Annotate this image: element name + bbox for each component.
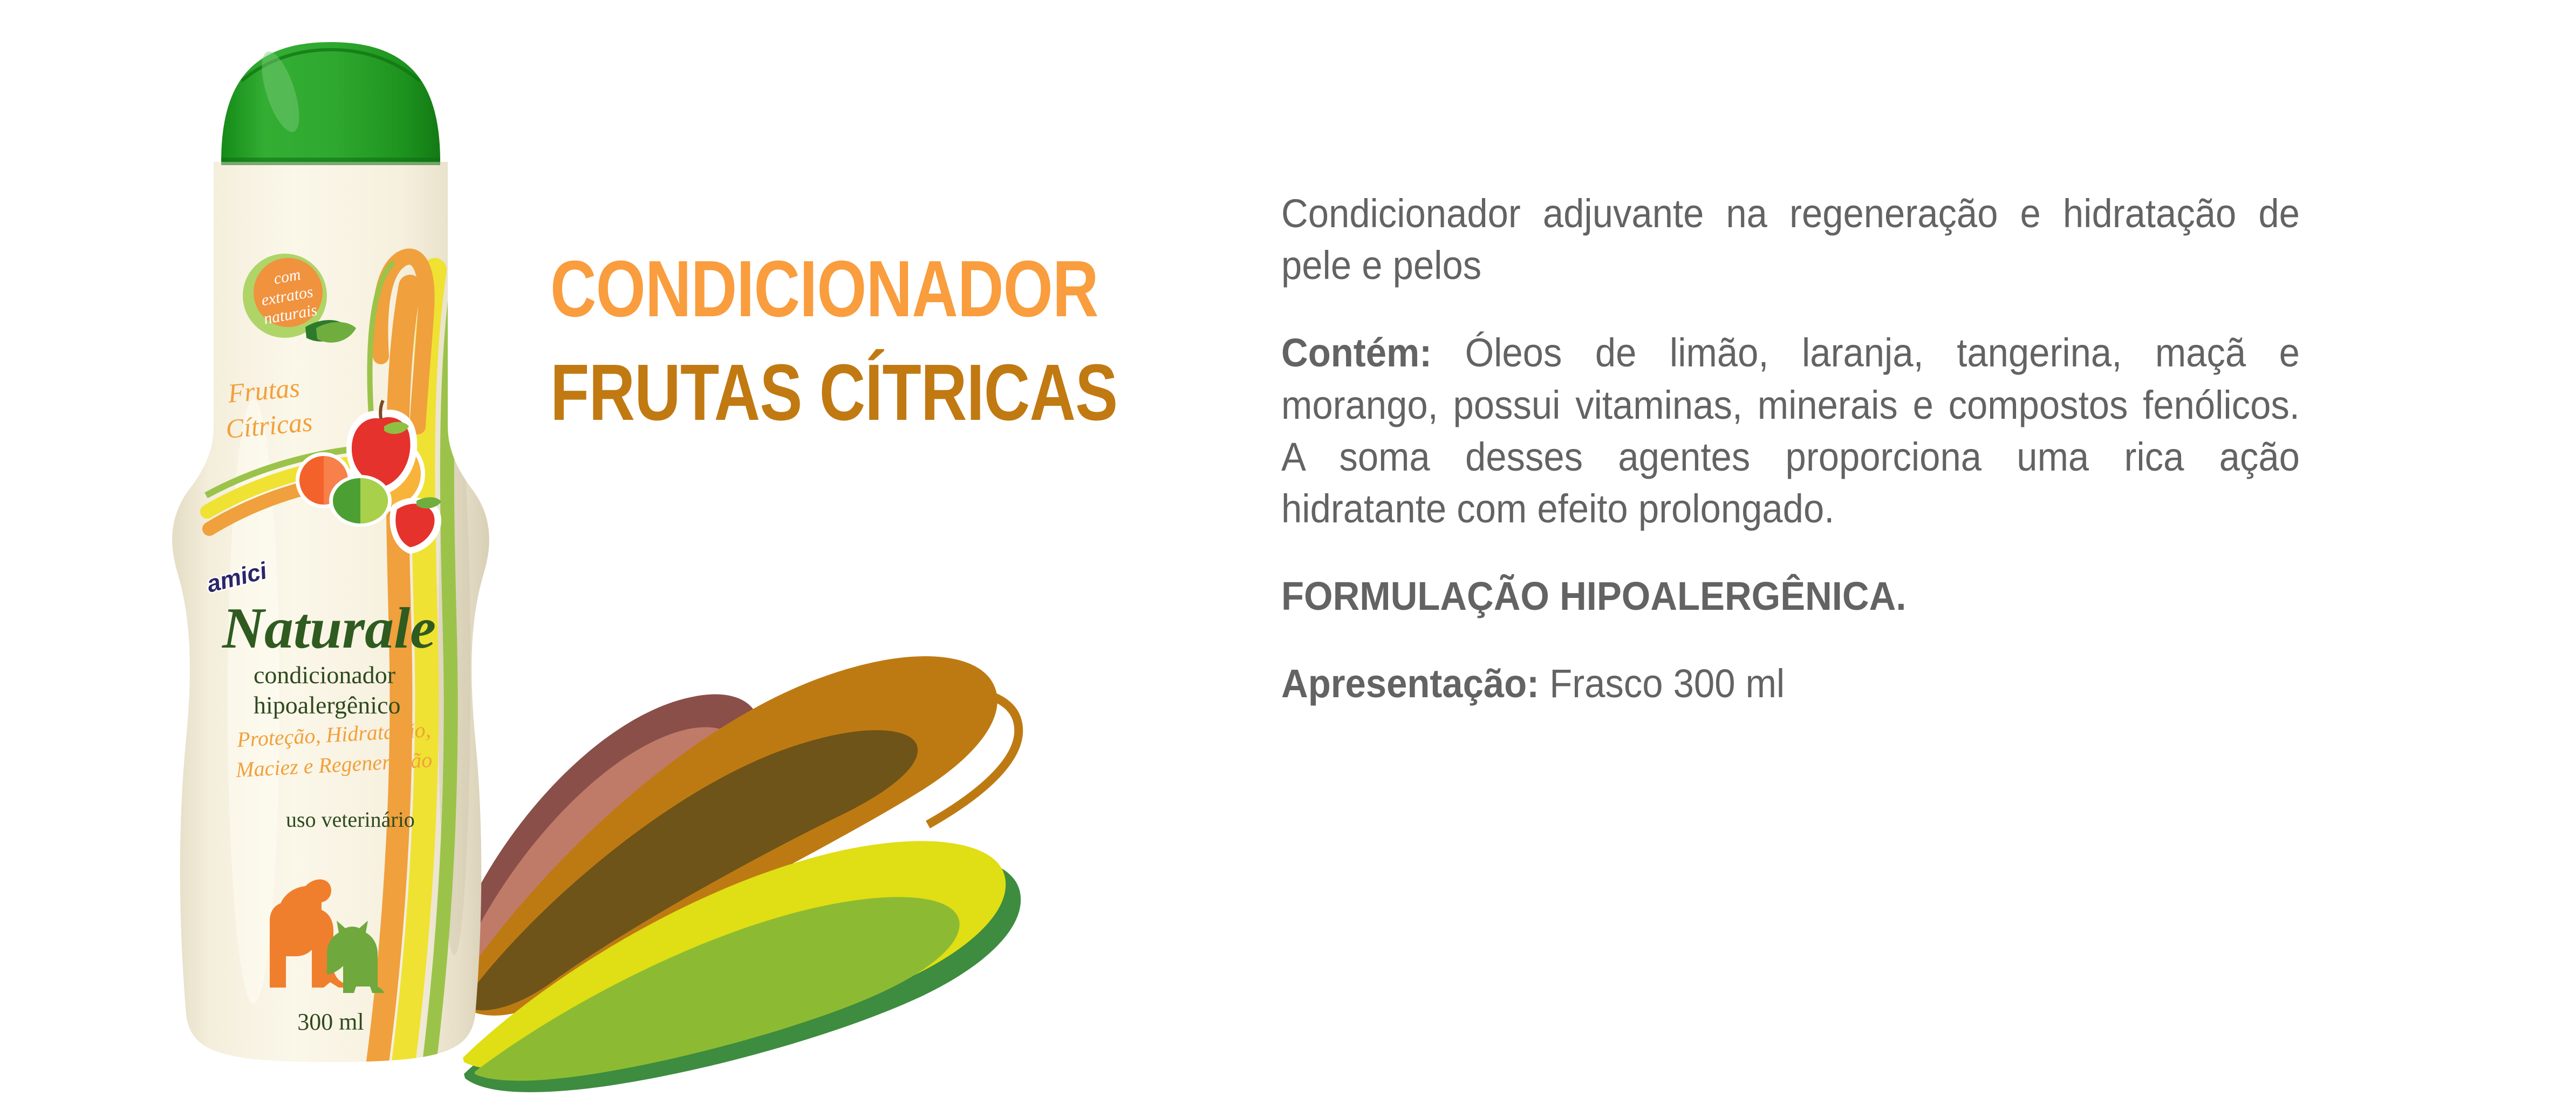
product-type-line-1: condicionador [254,661,395,689]
product-title-line-2: FRUTAS CÍTRICAS [550,341,1090,445]
product-description: Condicionador adjuvante na regeneração e… [1281,188,2376,710]
brand-main-label: Naturale [222,596,436,661]
contains-label: Contém: [1281,330,1432,375]
description-paragraph-contains: Contém: Óleos de limão, laranja, tangeri… [1281,327,2300,535]
product-bottle: com extratos naturais Frutas Cítricas [0,0,1241,1109]
description-paragraph-presentation: Apresentação: Frasco 300 ml [1281,658,2300,710]
description-paragraph-intro: Condicionador adjuvante na regeneração e… [1281,188,2300,291]
product-page: com extratos naturais Frutas Cítricas [0,0,2576,1109]
product-title: CONDICIONADOR FRUTAS CÍTRICAS [550,237,1225,445]
contains-text: Óleos de limão, laranja, tangerina, maçã… [1281,330,2300,531]
product-title-line-1: CONDICIONADOR [550,237,1090,341]
cap-rim [221,158,440,165]
intro-text: Condicionador adjuvante na regeneração e… [1281,191,2300,288]
bottle-cap [221,42,440,162]
product-type-line-2: hipoalergênico [254,691,401,719]
volume-label: 300 ml [297,1009,364,1035]
usage-label: uso veterinário [286,807,415,832]
presentation-text: Frasco 300 ml [1539,661,1785,706]
presentation-label: Apresentação: [1281,661,1539,706]
product-visual: com extratos naturais Frutas Cítricas [0,0,1241,1109]
formulation-label: FORMULAÇÃO HIPOALERGÊNICA. [1281,574,1906,618]
description-paragraph-formulation: FORMULAÇÃO HIPOALERGÊNICA. [1281,570,2300,622]
flavour-line-1: Frutas [226,372,301,409]
